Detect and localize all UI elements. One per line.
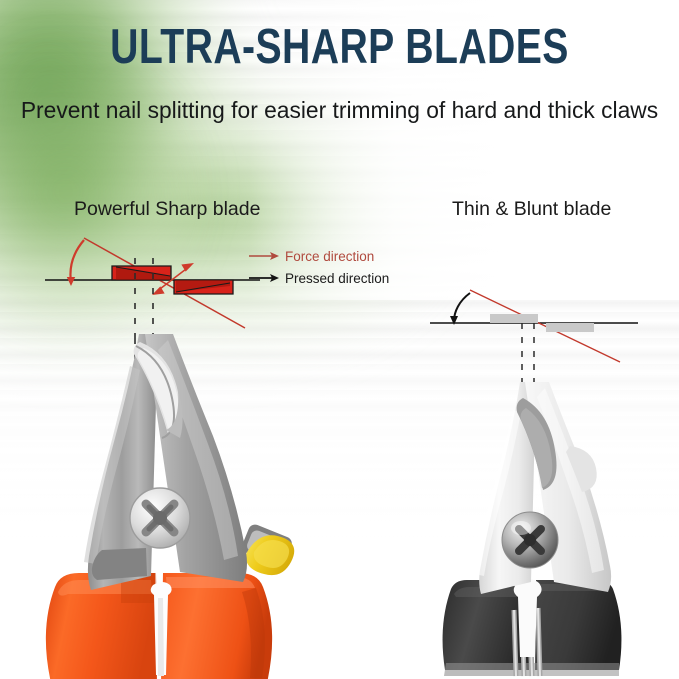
- legend-item-pressed: Pressed direction: [248, 267, 389, 289]
- handle-right-dark: [534, 580, 621, 676]
- safety-guard: [240, 522, 294, 575]
- arrow-right-icon: [248, 271, 282, 285]
- angle-arc: [70, 240, 84, 282]
- force-line: [470, 290, 620, 362]
- arrow-right-icon: [248, 249, 282, 263]
- diagram-blunt-blade: [420, 288, 660, 368]
- blade-bar-upper: [490, 314, 538, 323]
- page-title: ULTRA-SHARP BLADES: [68, 23, 611, 72]
- diagram-sharp-blade: [40, 230, 270, 340]
- blade-bar-lower: [546, 323, 594, 332]
- section-heading-blunt: Thin & Blunt blade: [452, 198, 611, 221]
- angle-arc-arrowhead: [67, 277, 75, 286]
- blade-wedge-lower: [174, 280, 233, 294]
- pivot-screw: [130, 488, 190, 548]
- page-subtitle: Prevent nail splitting for easier trimmi…: [10, 97, 669, 124]
- infographic-canvas: ULTRA-SHARP BLADES Prevent nail splittin…: [0, 0, 679, 679]
- handle-right: [161, 573, 272, 679]
- legend-label-force: Force direction: [285, 249, 374, 264]
- handle-left: [46, 573, 157, 679]
- product-blunt-clipper: [410, 380, 679, 679]
- pivot-screw-metal: [502, 512, 558, 568]
- section-heading-sharp: Powerful Sharp blade: [74, 198, 260, 221]
- blade-wedge-upper: [112, 266, 171, 280]
- product-sharp-clipper: [8, 330, 338, 679]
- legend-item-force: Force direction: [248, 245, 389, 267]
- legend-label-pressed: Pressed direction: [285, 271, 389, 286]
- legend: Force direction Pressed direction: [248, 245, 389, 289]
